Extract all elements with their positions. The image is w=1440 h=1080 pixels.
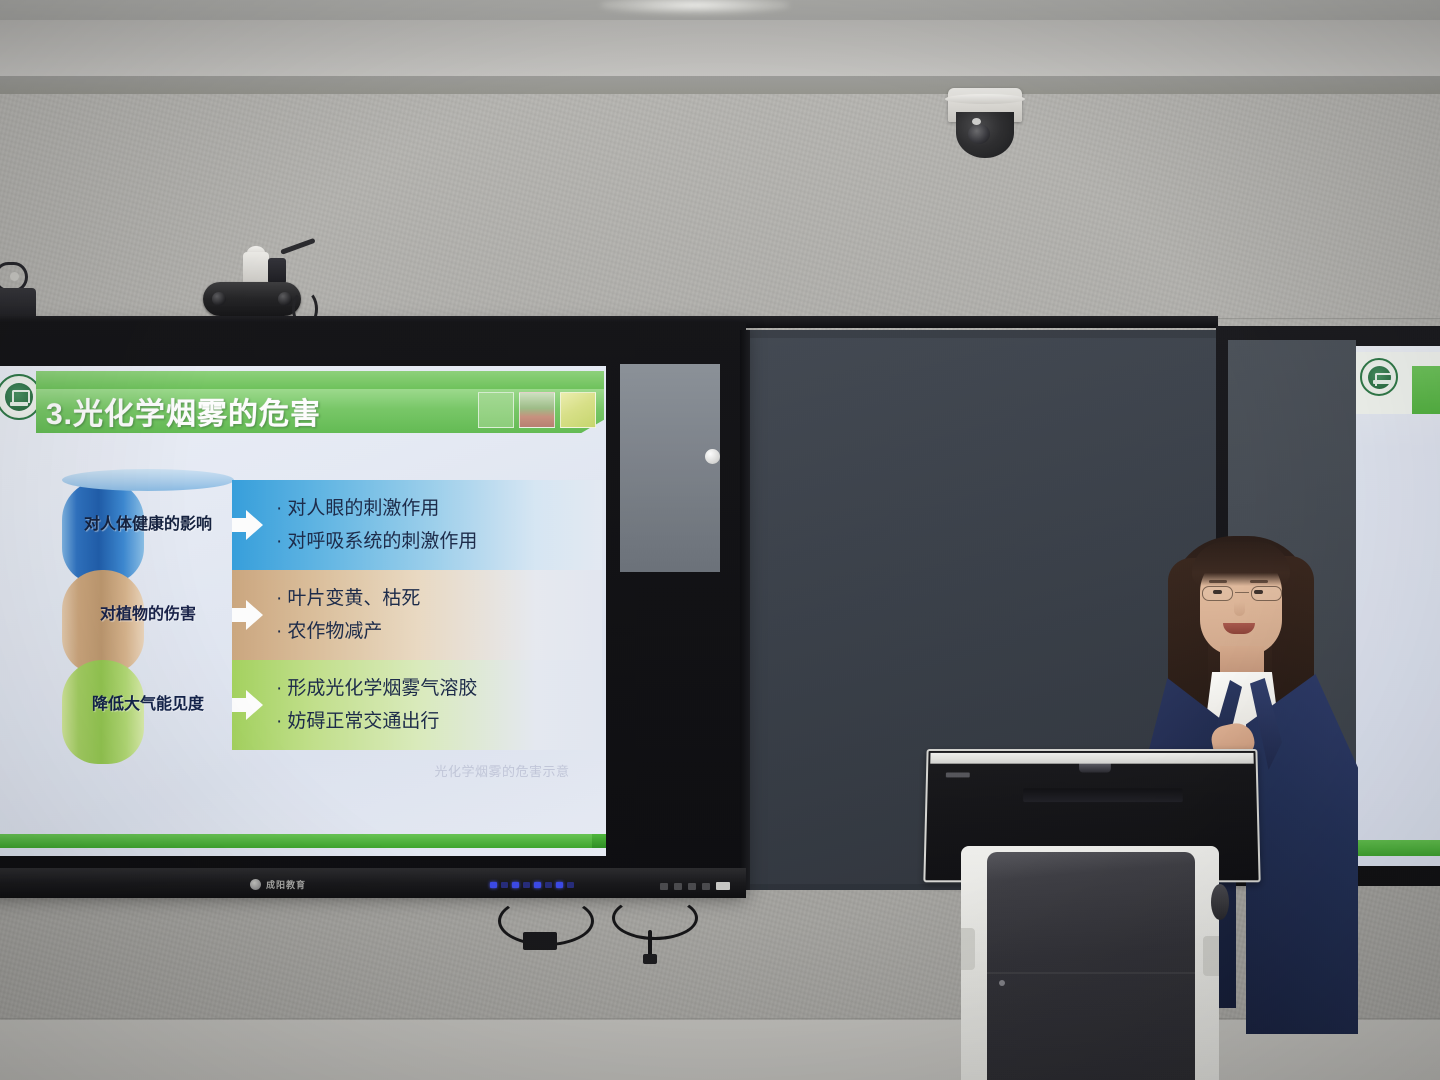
bullet-marker: · xyxy=(276,499,282,518)
bullet-marker: · xyxy=(276,712,282,731)
lectern-monitor-slot xyxy=(1023,788,1183,802)
classroom-scene: 3.光化学烟雾的危害 对人体健康的影响 对植物的伤害 降低大气能见度 xyxy=(0,0,1440,1080)
brand-text: 成阳教育 xyxy=(266,878,306,891)
cylinder-segment-plants: 对植物的伤害 xyxy=(62,570,234,660)
bullets-plants: ·叶片变黄、枯死 ·农作物减产 xyxy=(276,578,420,652)
bullet-marker: · xyxy=(276,679,282,698)
cylinder-label-health: 对人体健康的影响 xyxy=(72,516,224,534)
bullet-item: ·形成光化学烟雾气溶胶 xyxy=(276,672,477,705)
bullet-groups: ·对人眼的刺激作用 ·对呼吸系统的刺激作用 ·叶片变黄、枯死 ·农作物减产 ·形… xyxy=(232,480,602,750)
bullet-group-plants: ·叶片变黄、枯死 ·农作物减产 xyxy=(232,570,602,660)
thumb-crop-damage-icon xyxy=(519,392,555,428)
hanging-cable-right xyxy=(612,896,698,940)
cylinder-segment-health: 对人体健康的影响 xyxy=(62,480,234,570)
bullet-item: ·农作物减产 xyxy=(276,615,420,648)
bullet-item: ·妨碍正常交通出行 xyxy=(276,705,477,738)
presenter-eyebrow-left xyxy=(1209,580,1227,583)
bullet-text: 对人眼的刺激作用 xyxy=(287,498,439,519)
camera-mount-block xyxy=(268,258,286,284)
glasses-bridge xyxy=(1235,592,1249,593)
ceiling-strip xyxy=(0,20,1440,76)
dome-camera-glint xyxy=(972,118,981,125)
emblem-shield-icon xyxy=(5,383,33,411)
bullets-visibility: ·形成光化学烟雾气溶胶 ·妨碍正常交通出行 xyxy=(276,668,477,742)
control-button[interactable] xyxy=(674,883,682,890)
display-chin-bar xyxy=(0,868,746,898)
presenter-nose xyxy=(1234,602,1245,616)
right-slide-emblem-icon xyxy=(1360,358,1398,396)
led-indicator xyxy=(556,882,563,888)
right-display-slide xyxy=(1356,346,1440,866)
bullet-text: 对呼吸系统的刺激作用 xyxy=(287,531,477,552)
control-button[interactable] xyxy=(660,883,668,890)
display-led-indicators xyxy=(490,882,574,888)
slide-title-band xyxy=(36,371,604,389)
slide-footer-tip xyxy=(592,834,606,848)
right-slide-titlebar xyxy=(1356,352,1440,414)
thumb-blank-icon xyxy=(478,392,514,428)
led-indicator xyxy=(545,882,552,888)
brand-logo-icon xyxy=(250,879,261,890)
led-indicator xyxy=(501,882,508,888)
arrow-right-icon xyxy=(232,508,266,542)
cable-plug-icon xyxy=(643,954,657,964)
wall-upper-band xyxy=(0,76,1440,94)
bullet-marker: · xyxy=(276,532,282,551)
tracking-camera-lens-right xyxy=(278,292,292,306)
lectern-monitor-top-edge xyxy=(930,753,1253,764)
display-control-buttons[interactable] xyxy=(660,882,730,890)
bullet-text: 形成光化学烟雾气溶胶 xyxy=(287,678,477,699)
power-indicator-icon[interactable] xyxy=(705,449,720,464)
bullet-group-health: ·对人眼的刺激作用 ·对呼吸系统的刺激作用 xyxy=(232,480,602,570)
lectern-panel-seam xyxy=(987,972,1195,974)
led-indicator xyxy=(490,882,497,888)
lectern-notch-left xyxy=(961,928,975,970)
bullet-item: ·对呼吸系统的刺激作用 xyxy=(276,525,477,558)
display-side-panel xyxy=(620,364,720,572)
cable-junction-box xyxy=(523,932,557,950)
slide-thumbnail-strip xyxy=(478,392,596,428)
cylinder-label-visibility: 降低大气能见度 xyxy=(72,696,224,714)
right-slide-footer xyxy=(1356,840,1440,856)
power-button[interactable] xyxy=(716,882,730,890)
cylinder-label-plants: 对植物的伤害 xyxy=(72,606,224,624)
bullet-item: ·对人眼的刺激作用 xyxy=(276,492,477,525)
category-cylinder: 对人体健康的影响 对植物的伤害 降低大气能见度 xyxy=(62,480,234,750)
lectern-side-knob[interactable] xyxy=(1211,884,1229,920)
bullet-marker: · xyxy=(276,589,282,608)
tracking-camera-lens-left xyxy=(212,292,226,306)
slide-footer-bar xyxy=(0,834,606,848)
lectern-monitor-logo xyxy=(946,773,970,778)
cyl-top-ellipse xyxy=(62,469,234,491)
dome-camera-rim xyxy=(945,94,1025,104)
bullet-marker: · xyxy=(276,622,282,641)
dome-camera-lens xyxy=(968,124,990,144)
bullet-group-visibility: ·形成光化学烟雾气溶胶 ·妨碍正常交通出行 xyxy=(232,660,602,750)
led-indicator xyxy=(534,882,541,888)
lectern-notch-right xyxy=(1203,936,1219,976)
control-button[interactable] xyxy=(688,883,696,890)
display-brand: 成阳教育 xyxy=(250,878,306,891)
presentation-slide[interactable]: 3.光化学烟雾的危害 对人体健康的影响 对植物的伤害 降低大气能见度 xyxy=(0,366,606,856)
led-indicator xyxy=(523,882,530,888)
camera-mount xyxy=(243,252,269,286)
bullets-health: ·对人眼的刺激作用 ·对呼吸系统的刺激作用 xyxy=(276,488,477,562)
bullet-text: 妨碍正常交通出行 xyxy=(287,711,439,732)
presenter-hair-front xyxy=(1192,542,1290,586)
eyeglasses-icon xyxy=(1200,586,1284,602)
led-indicator xyxy=(567,882,574,888)
lectern-indicator-dot xyxy=(999,980,1005,986)
arrow-right-icon xyxy=(232,598,266,632)
led-indicator xyxy=(512,882,519,888)
right-emblem-shield-icon xyxy=(1368,366,1391,389)
right-slide-title-band xyxy=(1412,366,1440,414)
bullet-item: ·叶片变黄、枯死 xyxy=(276,582,420,615)
slide-watermark: 光化学烟雾的危害示意 xyxy=(412,764,592,800)
lectern[interactable] xyxy=(925,748,1265,1080)
bullet-text: 叶片变黄、枯死 xyxy=(287,588,420,609)
left-equipment-dot xyxy=(10,272,19,281)
tracking-camera-icon xyxy=(203,282,301,316)
lectern-webcam-icon xyxy=(1079,764,1111,773)
lectern-front-panel xyxy=(987,852,1195,1080)
glasses-lens-left xyxy=(1202,586,1233,601)
glasses-lens-right xyxy=(1251,586,1282,601)
bullet-text: 农作物减产 xyxy=(287,621,382,642)
dome-camera-icon xyxy=(944,88,1026,166)
arrow-right-icon xyxy=(232,688,266,722)
presenter-eyebrow-right xyxy=(1250,580,1268,583)
control-button[interactable] xyxy=(702,883,710,890)
display-vertical-seam xyxy=(740,330,750,890)
cylinder-segment-visibility: 降低大气能见度 xyxy=(62,660,234,750)
slide-title: 3.光化学烟雾的危害 xyxy=(46,389,321,433)
thumb-yellow-leaf-icon xyxy=(560,392,596,428)
